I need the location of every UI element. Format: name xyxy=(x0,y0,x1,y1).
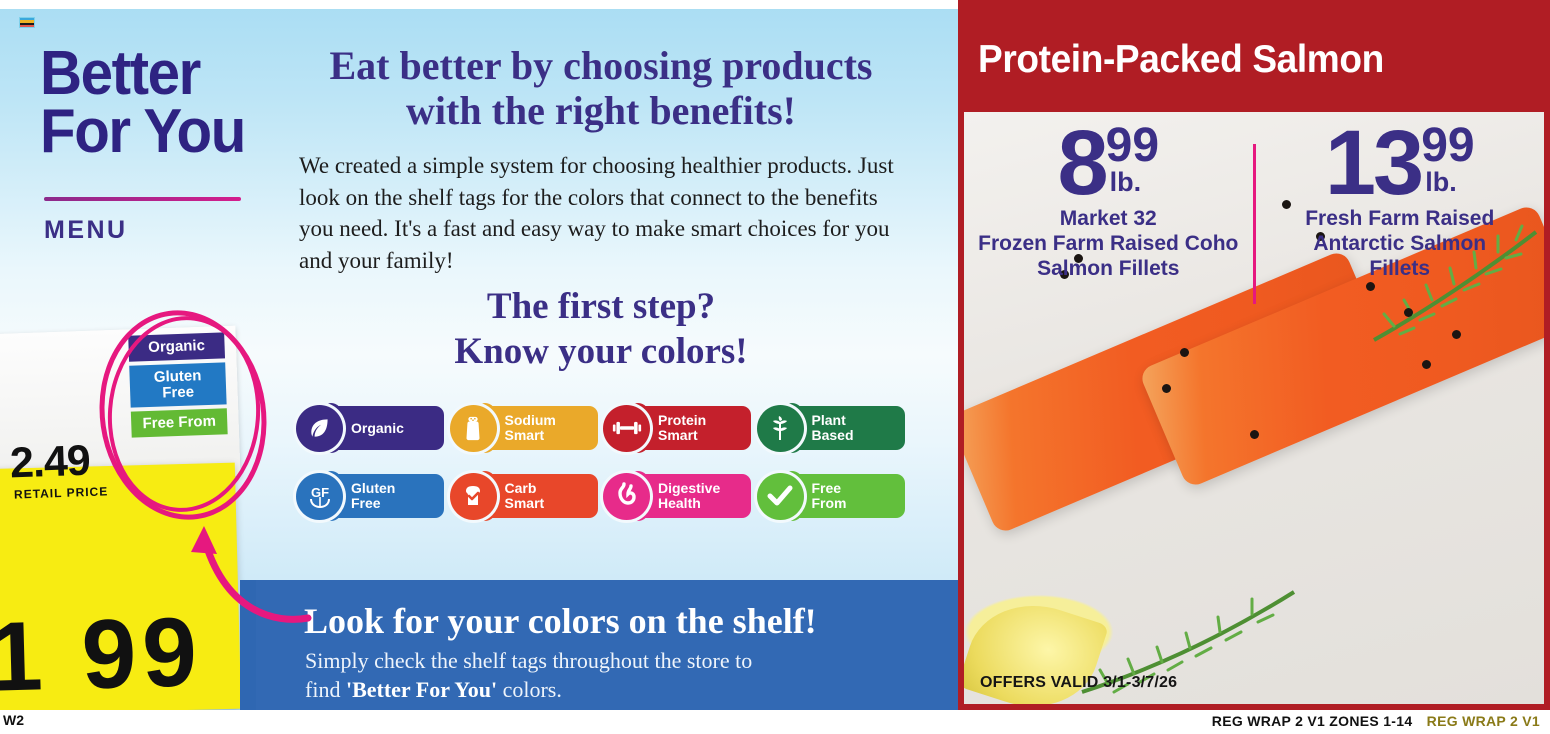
salmon-panel-title: Protein-Packed Salmon xyxy=(978,38,1384,82)
band-text-pre: find xyxy=(305,677,346,702)
benefit-badge-grid: Organic Sodium Smart xyxy=(296,400,910,524)
market32-flag-icon xyxy=(19,17,35,28)
footer-right-codes: REG WRAP 2 V1 ZONES 1-14 REG WRAP 2 V1 xyxy=(1212,713,1540,729)
badge-plant-based[interactable]: Plant Based xyxy=(757,400,911,456)
step-line2: Know your colors! xyxy=(296,329,906,374)
footer-zone-code: REG WRAP 2 V1 ZONES 1-14 xyxy=(1212,713,1413,729)
top-white-strip xyxy=(0,0,958,9)
offer-description: Market 32 Frozen Farm Raised Coho Salmon… xyxy=(964,207,1253,281)
offer-2[interactable]: 13 99 lb. Fresh Farm Raised Antarctic Sa… xyxy=(1256,126,1545,304)
menu-label: MENU xyxy=(44,216,128,245)
badge-label: Plant Based xyxy=(812,413,854,442)
badge-gluten-free[interactable]: GF Gluten Free xyxy=(296,468,450,524)
footer-left-code: W2 xyxy=(3,712,24,728)
brand-title-line1: Better xyxy=(40,45,256,103)
badge-label: Digestive Health xyxy=(658,481,720,510)
footer-wrap-code: REG WRAP 2 V1 xyxy=(1427,713,1540,729)
offer-dollars: 8 xyxy=(1057,126,1105,201)
badge-protein-smart[interactable]: Protein Smart xyxy=(603,400,757,456)
offers-valid-text: OFFERS VALID 3/1-3/7/26 xyxy=(980,674,1177,692)
offer-description: Fresh Farm Raised Antarctic Salmon Fille… xyxy=(1256,207,1545,281)
headline-line1: Eat better by choosing products xyxy=(296,44,906,89)
band-text-line1: Simply check the shelf tags throughout t… xyxy=(305,648,752,673)
headline: Eat better by choosing products with the… xyxy=(296,44,906,134)
badge-carb-smart[interactable]: Carb Smart xyxy=(450,468,604,524)
band-text: Simply check the shelf tags throughout t… xyxy=(305,647,752,704)
offer-unit: lb. xyxy=(1425,171,1474,193)
offer-1[interactable]: 8 99 lb. Market 32 Frozen Farm Raised Co… xyxy=(964,126,1253,304)
band-text-bold: 'Better For You' xyxy=(346,677,497,702)
bread-check-icon xyxy=(450,473,497,520)
badge-digestive-health[interactable]: Digestive Health xyxy=(603,468,757,524)
badge-label: Organic xyxy=(351,421,404,436)
dumbbell-icon xyxy=(603,405,650,452)
offer-unit: lb. xyxy=(1110,171,1159,193)
offer-cents: 99 xyxy=(1106,126,1159,165)
badge-label: Carb Smart xyxy=(505,481,545,510)
plant-sprig-icon xyxy=(757,405,804,452)
pink-arrow-icon xyxy=(170,520,320,630)
badge-free-from[interactable]: Free From xyxy=(757,468,911,524)
checkmark-icon xyxy=(757,473,804,520)
band-heading: Look for your colors on the shelf! xyxy=(304,600,817,642)
body-copy: We created a simple system for choosing … xyxy=(299,150,909,277)
badge-sodium-smart[interactable]: Sodium Smart xyxy=(450,400,604,456)
headline-line2: with the right benefits! xyxy=(296,89,906,134)
stomach-icon xyxy=(603,473,650,520)
badge-label: Gluten Free xyxy=(351,481,395,510)
shelf-tag-price: 2.49 xyxy=(9,437,90,489)
leaf-icon xyxy=(296,405,343,452)
badge-organic[interactable]: Organic xyxy=(296,400,450,456)
price-row: 8 99 lb. Market 32 Frozen Farm Raised Co… xyxy=(964,126,1544,304)
salmon-offer-card: 8 99 lb. Market 32 Frozen Farm Raised Co… xyxy=(964,112,1544,704)
first-step-heading: The first step? Know your colors! xyxy=(296,284,906,374)
badge-label: Protein Smart xyxy=(658,413,706,442)
gf-hands-icon: GF xyxy=(296,473,343,520)
title-underline-rule xyxy=(44,197,241,201)
offer-cents: 99 xyxy=(1421,126,1474,165)
shelf-callout-band: Look for your colors on the shelf! Simpl… xyxy=(256,580,958,710)
ad-circular-page: Better For You MENU 2.49 RETAIL PRICE 1 … xyxy=(0,0,1550,734)
salt-shaker-icon xyxy=(450,405,497,452)
offer-dollars: 13 xyxy=(1325,126,1421,201)
better-for-you-panel: Better For You MENU 2.49 RETAIL PRICE 1 … xyxy=(0,0,958,710)
badge-label: Sodium Smart xyxy=(505,413,556,442)
badge-label: Free From xyxy=(812,481,847,510)
page-title: Better For You xyxy=(40,45,256,160)
band-text-post: colors. xyxy=(497,677,562,702)
step-line1: The first step? xyxy=(296,284,906,329)
brand-title-line2: For You xyxy=(40,103,256,161)
salmon-offer-panel: Protein-Packed Salmon xyxy=(958,0,1550,710)
